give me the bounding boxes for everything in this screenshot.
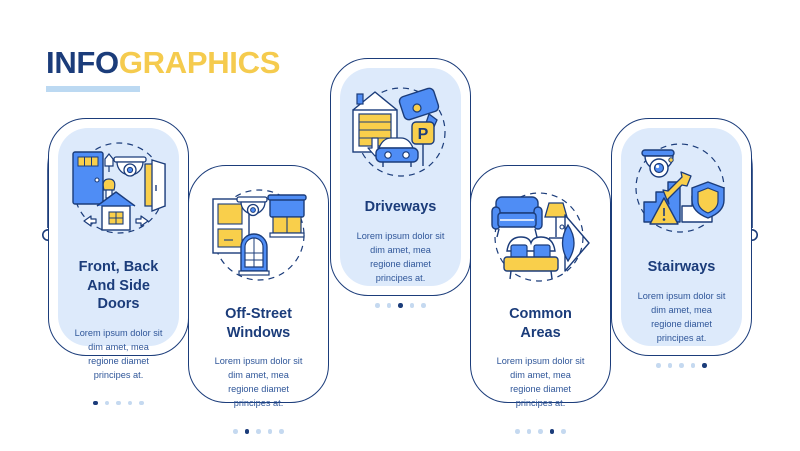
card-title: Driveways bbox=[357, 198, 445, 217]
step-dot-3[interactable] bbox=[679, 363, 684, 368]
infographic-canvas: INFOGRAPHICS bbox=[0, 0, 800, 451]
step-dot-3[interactable] bbox=[256, 429, 261, 434]
step-card-common-areas[interactable]: Common Areas Lorem ipsum dolor sit dim a… bbox=[470, 165, 611, 403]
step-dot-1[interactable] bbox=[93, 401, 98, 406]
card-body-text: Lorem ipsum dolor sit dim amet, mea regi… bbox=[58, 327, 179, 383]
page-title-accent: GRAPHICS bbox=[119, 45, 280, 80]
step-dot-2[interactable] bbox=[245, 429, 250, 434]
step-dots[interactable] bbox=[375, 303, 426, 308]
step-dot-4[interactable] bbox=[410, 303, 415, 308]
card-title: Stairways bbox=[640, 258, 724, 277]
card-body-text: Lorem ipsum dolor sit dim amet, mea regi… bbox=[198, 355, 319, 411]
sofa-lamp-bed-eye-icon bbox=[479, 185, 603, 289]
card-title: Off-Street Windows bbox=[198, 305, 319, 342]
step-dot-3[interactable] bbox=[398, 303, 403, 308]
step-dot-5[interactable] bbox=[139, 401, 144, 406]
page-header: INFOGRAPHICS bbox=[46, 47, 280, 92]
step-dot-3[interactable] bbox=[538, 429, 543, 434]
garage-car-parking-sign-camera-icon: P bbox=[339, 78, 463, 182]
step-dot-1[interactable] bbox=[375, 303, 380, 308]
card-body-text: Lorem ipsum dolor sit dim amet, mea regi… bbox=[340, 230, 461, 286]
step-dot-4[interactable] bbox=[268, 429, 273, 434]
svg-text:P: P bbox=[417, 126, 428, 143]
step-dot-2[interactable] bbox=[105, 401, 110, 406]
step-dot-4[interactable] bbox=[691, 363, 696, 368]
page-title: INFOGRAPHICS bbox=[46, 47, 280, 78]
step-dots[interactable] bbox=[233, 429, 284, 434]
page-title-primary: INFO bbox=[46, 45, 119, 80]
step-dot-4[interactable] bbox=[128, 401, 133, 406]
step-dot-2[interactable] bbox=[668, 363, 673, 368]
step-dots[interactable] bbox=[93, 401, 144, 406]
card-body-text: Lorem ipsum dolor sit dim amet, mea regi… bbox=[621, 290, 742, 346]
card-body-text: Lorem ipsum dolor sit dim amet, mea regi… bbox=[480, 355, 601, 411]
step-dot-3[interactable] bbox=[116, 401, 121, 406]
card-title: Common Areas bbox=[480, 305, 601, 342]
stairs-camera-warning-shield-icon bbox=[620, 138, 744, 242]
step-card-stairways[interactable]: Stairways Lorem ipsum dolor sit dim amet… bbox=[611, 118, 752, 356]
step-card-front-back-side-doors[interactable]: Front, Back And Side Doors Lorem ipsum d… bbox=[48, 118, 189, 356]
step-card-off-street-windows[interactable]: Off-Street Windows Lorem ipsum dolor sit… bbox=[188, 165, 329, 403]
step-dot-2[interactable] bbox=[387, 303, 392, 308]
step-dot-1[interactable] bbox=[233, 429, 238, 434]
title-underline-rule bbox=[46, 86, 140, 92]
step-dot-1[interactable] bbox=[515, 429, 520, 434]
step-card-driveways[interactable]: P Driveways Lorem ipsum dolor sit dim am… bbox=[330, 58, 471, 296]
step-dot-1[interactable] bbox=[656, 363, 661, 368]
step-dot-2[interactable] bbox=[527, 429, 532, 434]
step-dot-5[interactable] bbox=[279, 429, 284, 434]
window-awning-camera-icon bbox=[197, 185, 321, 289]
card-title: Front, Back And Side Doors bbox=[58, 258, 179, 314]
step-dot-5[interactable] bbox=[702, 363, 707, 368]
door-security-camera-house-icon bbox=[57, 138, 181, 242]
step-dots[interactable] bbox=[656, 363, 707, 368]
step-dots[interactable] bbox=[515, 429, 566, 434]
step-dot-4[interactable] bbox=[550, 429, 555, 434]
step-dot-5[interactable] bbox=[421, 303, 426, 308]
step-dot-5[interactable] bbox=[561, 429, 566, 434]
